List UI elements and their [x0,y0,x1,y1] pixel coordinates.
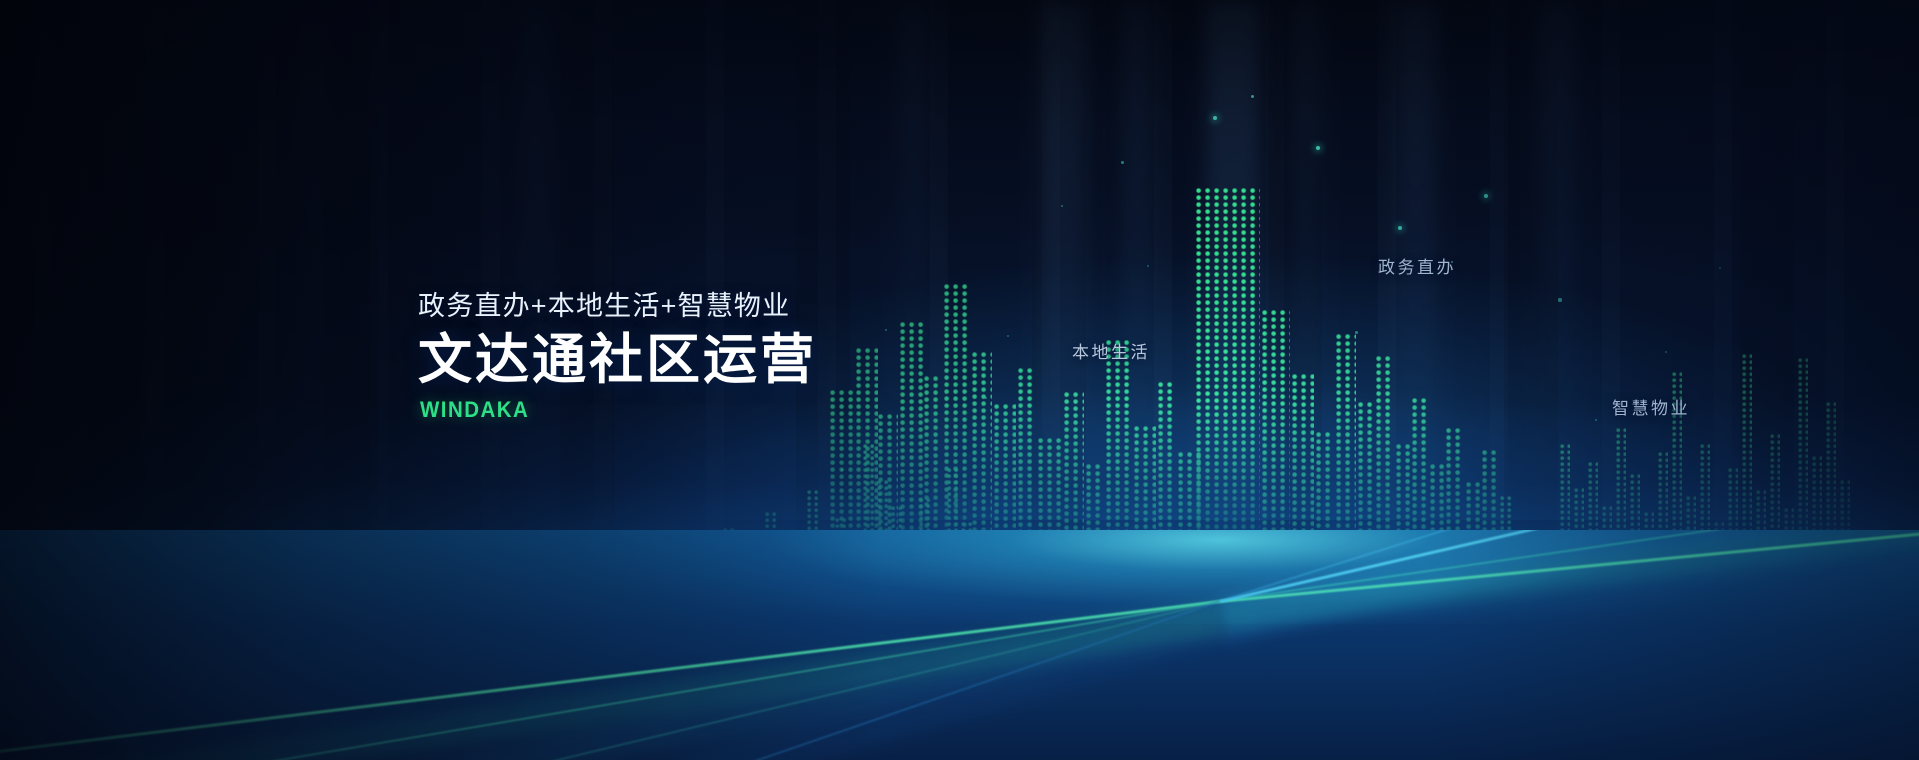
hero-banner: 政务直办 本地生活 智慧物业 政务直办+本地生活+智慧物业 文达通社区运营 WI… [0,0,1919,760]
hero-subtitle: 政务直办+本地生活+智慧物业 [418,290,817,322]
skyline-label-local-life: 本地生活 [1072,338,1150,363]
skyline-label-government: 政务直办 [1378,253,1456,278]
skyline-label-smart-property: 智慧物业 [1612,394,1690,419]
brand-wordmark: WINDAKA [420,397,789,423]
hero-headline: 文达通社区运营 [418,330,817,390]
hero-copy-block: 政务直办+本地生活+智慧物业 文达通社区运营 WINDAKA [418,290,817,423]
perspective-ground [0,530,1919,760]
ground-gradient-shade [0,530,1919,760]
